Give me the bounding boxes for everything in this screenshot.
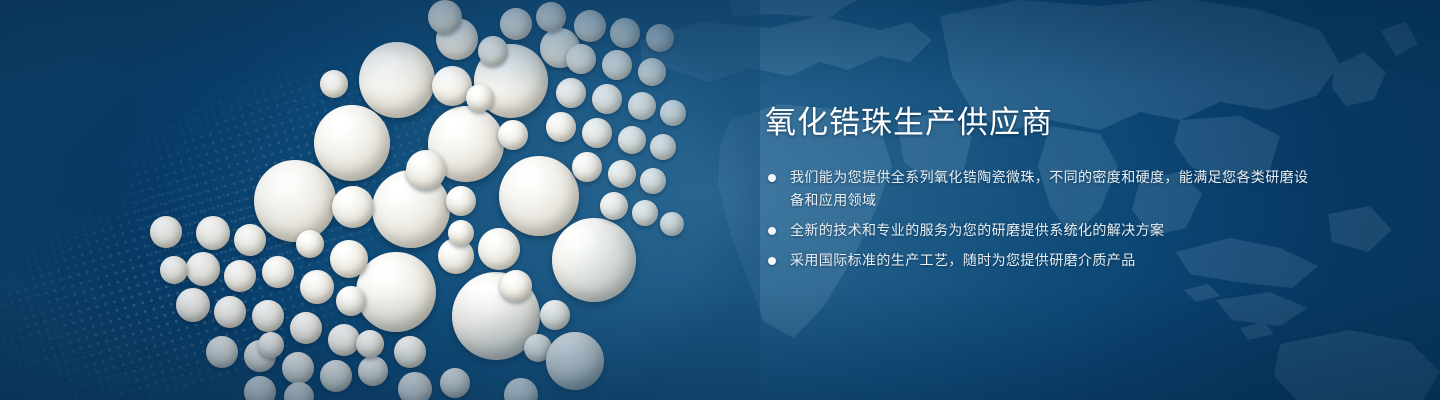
banner-content: 氧化锆珠生产供应商 我们能为您提供全系列氧化锆陶瓷微珠，不同的密度和硬度，能满足… (762, 104, 1322, 272)
dot-icon (768, 257, 776, 265)
hero-banner: 氧化锆珠生产供应商 我们能为您提供全系列氧化锆陶瓷微珠，不同的密度和硬度，能满足… (0, 0, 1440, 400)
list-item: 全新的技术和专业的服务为您的研磨提供系统化的解决方案 (762, 219, 1322, 242)
list-item-label: 全新的技术和专业的服务为您的研磨提供系统化的解决方案 (790, 219, 1322, 242)
page-title: 氧化锆珠生产供应商 (765, 104, 1322, 142)
list-item-label: 我们能为您提供全系列氧化锆陶瓷微珠，不同的密度和硬度，能满足您各类研磨设备和应用… (790, 166, 1322, 212)
list-item: 采用国际标准的生产工艺，随时为您提供研磨介质产品 (762, 249, 1322, 272)
list-item: 我们能为您提供全系列氧化锆陶瓷微珠，不同的密度和硬度，能满足您各类研磨设备和应用… (762, 166, 1322, 212)
list-item-label: 采用国际标准的生产工艺，随时为您提供研磨介质产品 (790, 249, 1322, 272)
dot-icon (768, 227, 776, 235)
feature-list: 我们能为您提供全系列氧化锆陶瓷微珠，不同的密度和硬度，能满足您各类研磨设备和应用… (762, 166, 1322, 272)
dot-icon (768, 174, 776, 182)
